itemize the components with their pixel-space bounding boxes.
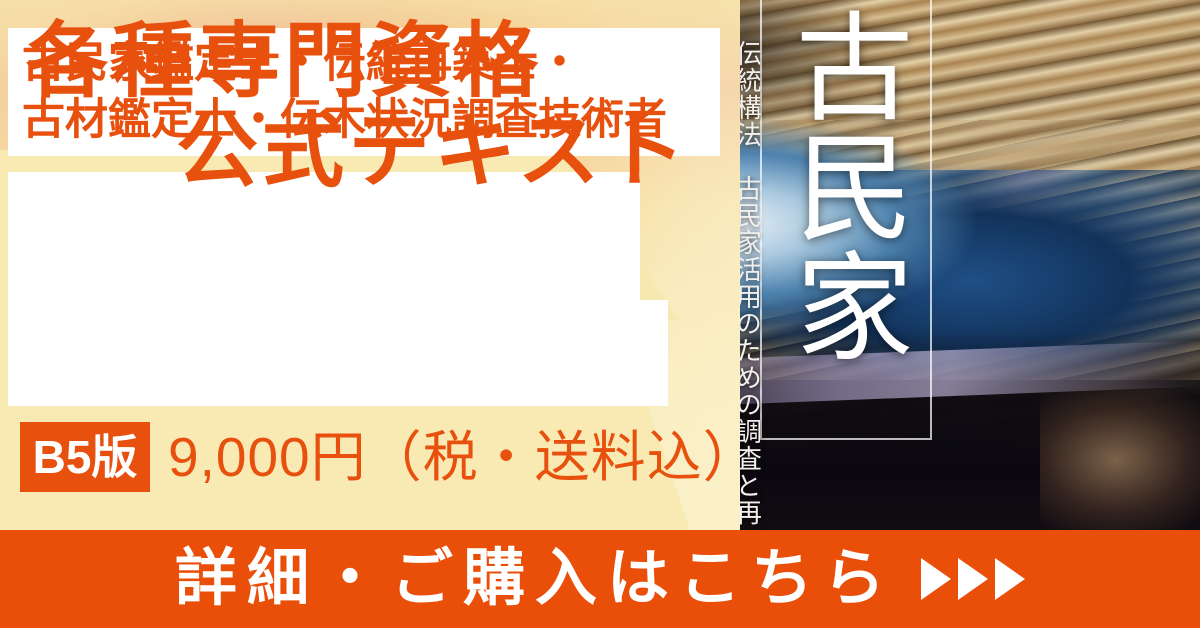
triangle-right-icon xyxy=(958,558,988,600)
headline-line-1: 各種専門資格 xyxy=(26,14,542,110)
book-cover-title: 古民家 xyxy=(788,6,908,366)
cta-label: 詳細・ご購入はこちら xyxy=(175,530,895,628)
format-badge: B5版 xyxy=(20,422,150,492)
triangle-right-icon xyxy=(921,558,951,600)
triangle-right-icon xyxy=(995,558,1025,600)
price-text: 9,000円（税・送料込） xyxy=(168,424,759,490)
cta-bar[interactable]: 詳細・ご購入はこちら xyxy=(0,530,1200,628)
photo-warm-glow xyxy=(1040,380,1200,540)
headline-line-2: 公式テキスト xyxy=(176,104,690,200)
headline-panel xyxy=(8,172,668,406)
promo-banner: 伝統構法 古民家活用のための調査と再生の 古民家 古民家鑑定士・伝統再築士・ 古… xyxy=(0,0,1200,628)
cta-arrows xyxy=(921,558,1025,600)
cta-inner[interactable]: 詳細・ご購入はこちら xyxy=(0,530,1200,628)
